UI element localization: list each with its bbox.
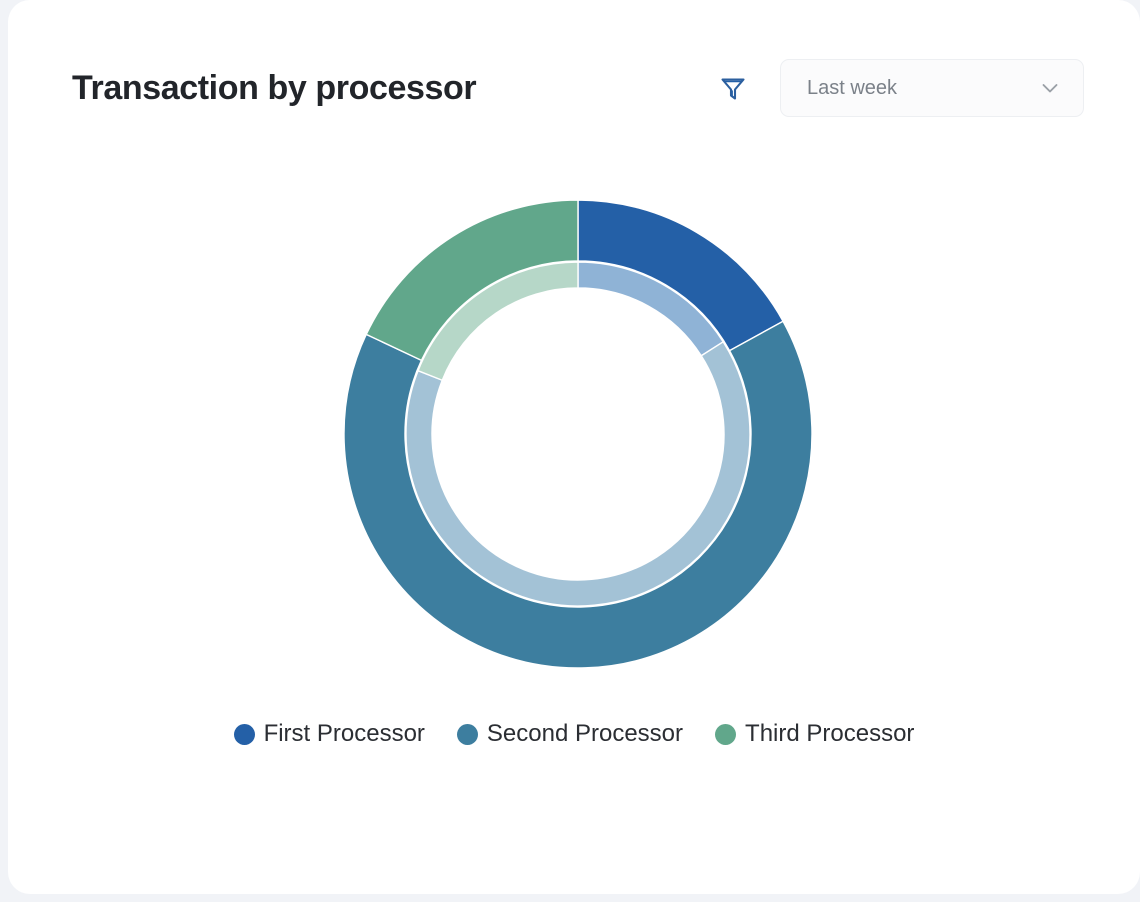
card-header: Transaction by processor Last week	[72, 56, 1084, 120]
legend-swatch-icon	[234, 724, 255, 745]
period-select-value: Last week	[807, 78, 897, 98]
legend-item[interactable]: First Processor	[234, 722, 425, 746]
header-controls: Last week	[718, 59, 1084, 117]
legend-item[interactable]: Second Processor	[457, 722, 683, 746]
page-title: Transaction by processor	[72, 71, 476, 105]
legend-item-label: First Processor	[264, 722, 425, 746]
donut-chart-svg	[8, 140, 1140, 700]
donut-segment[interactable]	[344, 321, 812, 668]
funnel-filter-icon[interactable]	[718, 73, 748, 103]
screenshot-root: Transaction by processor Last week	[0, 0, 1140, 902]
legend-item-label: Second Processor	[487, 722, 683, 746]
legend-swatch-icon	[715, 724, 736, 745]
legend-item[interactable]: Third Processor	[715, 722, 914, 746]
period-select[interactable]: Last week	[780, 59, 1084, 117]
chevron-down-icon[interactable]	[1039, 77, 1061, 99]
legend-item-label: Third Processor	[745, 722, 914, 746]
legend-swatch-icon	[457, 724, 478, 745]
donut-chart	[8, 140, 1140, 700]
transaction-by-processor-card: Transaction by processor Last week	[8, 0, 1140, 894]
chart-legend: First ProcessorSecond ProcessorThird Pro…	[8, 722, 1140, 746]
